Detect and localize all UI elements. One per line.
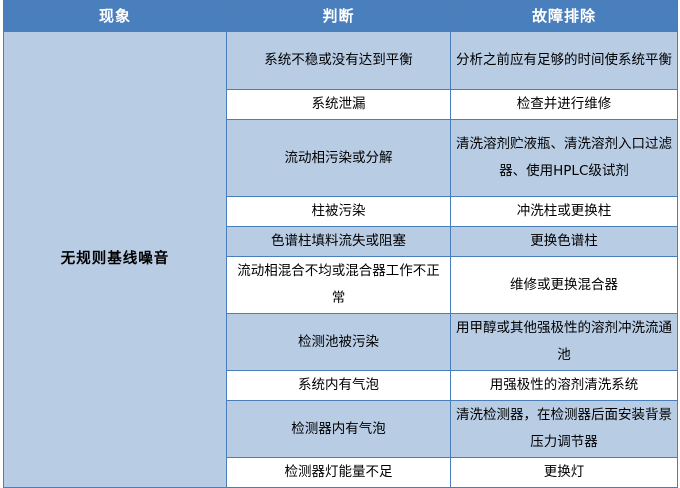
judgement-text: 检测器内有气泡 xyxy=(231,416,446,443)
remedy-cell: 检查并进行维修 xyxy=(451,90,678,120)
judgement-cell: 流动相污染或分解 xyxy=(227,120,451,197)
remedy-text: 维修或更换混合器 xyxy=(455,272,673,299)
table-body: 无规则基线噪音系统不稳或没有达到平衡分析之前应有足够的时间使系统平衡系统泄漏检查… xyxy=(4,32,678,488)
judgement-text: 色谱柱填料流失或阻塞 xyxy=(231,228,446,255)
remedy-cell: 冲洗柱或更换柱 xyxy=(451,197,678,227)
judgement-cell: 检测器灯能量不足 xyxy=(227,458,451,488)
remedy-text: 清洗溶剂贮液瓶、清洗溶剂入口过滤器、使用HPLC级试剂 xyxy=(455,131,673,185)
judgement-cell: 色谱柱填料流失或阻塞 xyxy=(227,227,451,257)
phenomenon-cell: 无规则基线噪音 xyxy=(4,32,227,488)
judgement-cell: 柱被污染 xyxy=(227,197,451,227)
judgement-cell: 检测池被污染 xyxy=(227,314,451,371)
column-header-judgement: 判断 xyxy=(227,1,451,32)
judgement-text: 系统不稳或没有达到平衡 xyxy=(231,47,446,74)
troubleshooting-table: 现象 判断 故障排除 无规则基线噪音系统不稳或没有达到平衡分析之前应有足够的时间… xyxy=(3,0,678,488)
remedy-text: 分析之前应有足够的时间使系统平衡 xyxy=(455,47,673,74)
judgement-text: 系统泄漏 xyxy=(231,91,446,118)
remedy-cell: 更换灯 xyxy=(451,458,678,488)
remedy-text: 冲洗柱或更换柱 xyxy=(455,198,673,225)
judgement-text: 系统内有气泡 xyxy=(231,372,446,399)
remedy-cell: 分析之前应有足够的时间使系统平衡 xyxy=(451,32,678,90)
table-header: 现象 判断 故障排除 xyxy=(4,1,678,32)
column-header-phenomenon: 现象 xyxy=(4,1,227,32)
remedy-cell: 用强极性的溶剂清洗系统 xyxy=(451,371,678,401)
judgement-text: 流动相污染或分解 xyxy=(231,145,446,172)
judgement-text: 柱被污染 xyxy=(231,198,446,225)
judgement-cell: 流动相混合不均或混合器工作不正常 xyxy=(227,257,451,314)
remedy-text: 清洗检测器，在检测器后面安装背景压力调节器 xyxy=(455,402,673,456)
judgement-text: 检测池被污染 xyxy=(231,329,446,356)
judgement-cell: 系统内有气泡 xyxy=(227,371,451,401)
remedy-cell: 维修或更换混合器 xyxy=(451,257,678,314)
troubleshooting-table-container: 现象 判断 故障排除 无规则基线噪音系统不稳或没有达到平衡分析之前应有足够的时间… xyxy=(3,0,677,475)
remedy-cell: 用甲醇或其他强极性的溶剂冲洗流通池 xyxy=(451,314,678,371)
column-header-remedy: 故障排除 xyxy=(451,1,678,32)
remedy-text: 检查并进行维修 xyxy=(455,91,673,118)
remedy-text: 用强极性的溶剂清洗系统 xyxy=(455,372,673,399)
remedy-cell: 更换色谱柱 xyxy=(451,227,678,257)
table-row: 无规则基线噪音系统不稳或没有达到平衡分析之前应有足够的时间使系统平衡 xyxy=(4,32,678,90)
remedy-cell: 清洗检测器，在检测器后面安装背景压力调节器 xyxy=(451,401,678,458)
remedy-text: 更换灯 xyxy=(455,459,673,486)
phenomenon-label: 无规则基线噪音 xyxy=(8,246,222,273)
table-header-row: 现象 判断 故障排除 xyxy=(4,1,678,32)
remedy-cell: 清洗溶剂贮液瓶、清洗溶剂入口过滤器、使用HPLC级试剂 xyxy=(451,120,678,197)
remedy-text: 更换色谱柱 xyxy=(455,228,673,255)
judgement-cell: 检测器内有气泡 xyxy=(227,401,451,458)
judgement-text: 流动相混合不均或混合器工作不正常 xyxy=(231,258,446,312)
remedy-text: 用甲醇或其他强极性的溶剂冲洗流通池 xyxy=(455,315,673,369)
judgement-cell: 系统泄漏 xyxy=(227,90,451,120)
judgement-cell: 系统不稳或没有达到平衡 xyxy=(227,32,451,90)
judgement-text: 检测器灯能量不足 xyxy=(231,459,446,486)
